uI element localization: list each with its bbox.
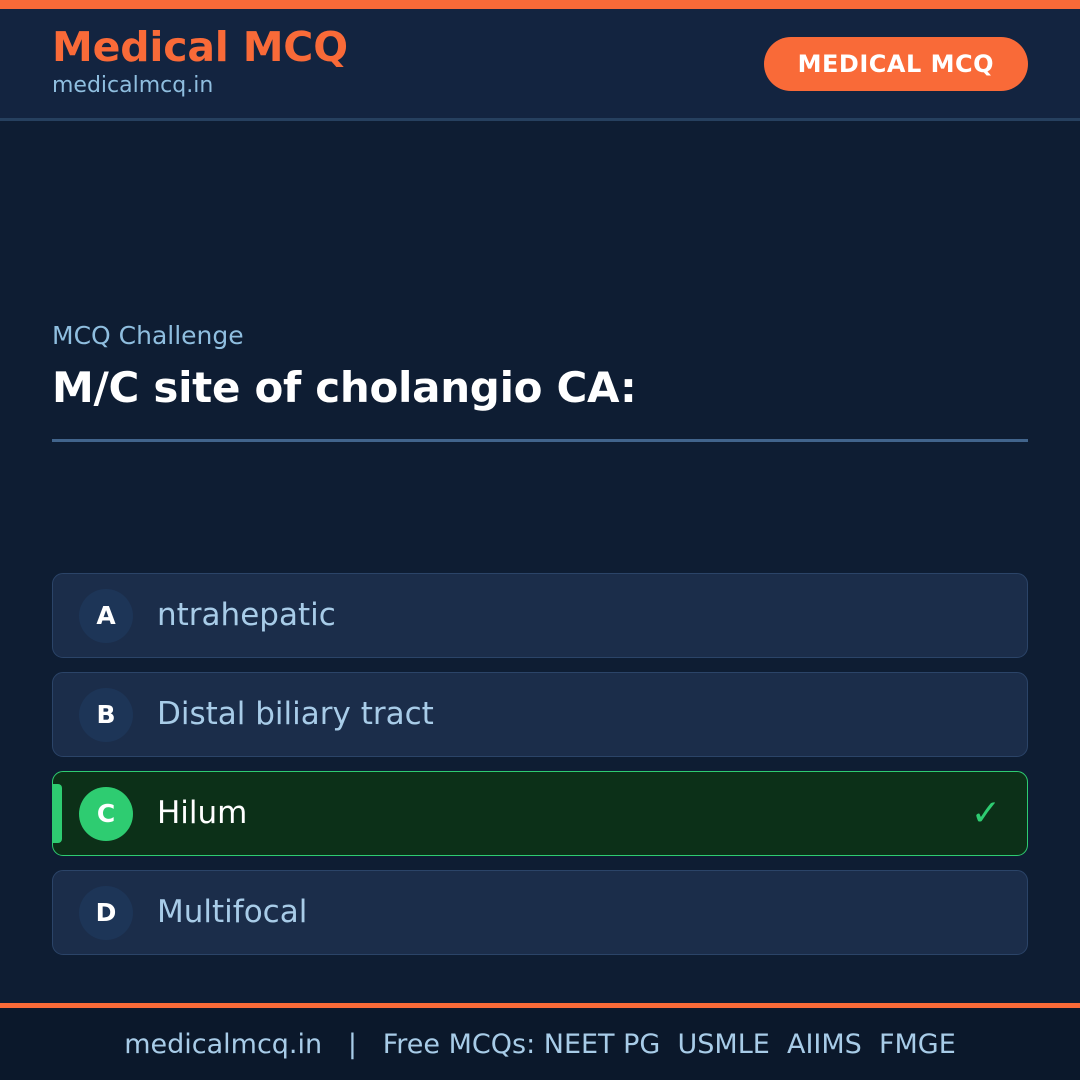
option-letter-badge: D — [79, 886, 133, 940]
header-badge: MEDICAL MCQ — [764, 37, 1028, 91]
option-text: Distal biliary tract — [157, 696, 985, 733]
main-content: MCQ Challenge M/C site of cholangio CA: … — [0, 121, 1080, 1003]
option-letter-badge: A — [79, 589, 133, 643]
brand-block: Medical MCQ medicalmcq.in — [52, 26, 348, 101]
eyebrow-label: MCQ Challenge — [52, 321, 1028, 351]
option-text: Hilum — [157, 795, 955, 832]
footer: medicalmcq.in | Free MCQs: NEET PG USMLE… — [0, 1008, 1080, 1080]
footer-text: medicalmcq.in | Free MCQs: NEET PG USMLE… — [124, 1031, 956, 1058]
header: Medical MCQ medicalmcq.in MEDICAL MCQ — [0, 9, 1080, 121]
top-accent-bar — [0, 0, 1080, 9]
option-row-a[interactable]: A ntrahepatic — [52, 573, 1028, 658]
question-block: MCQ Challenge M/C site of cholangio CA: — [52, 321, 1028, 442]
option-row-d[interactable]: D Multifocal — [52, 870, 1028, 955]
options-list: A ntrahepatic B Distal biliary tract C H… — [52, 573, 1028, 955]
option-row-c[interactable]: C Hilum ✓ — [52, 771, 1028, 856]
question-text: M/C site of cholangio CA: — [52, 363, 1028, 413]
brand-title: Medical MCQ — [52, 26, 348, 69]
brand-subtitle: medicalmcq.in — [52, 71, 348, 101]
option-row-b[interactable]: B Distal biliary tract — [52, 672, 1028, 757]
mcq-card: Medical MCQ medicalmcq.in MEDICAL MCQ MC… — [0, 0, 1080, 1080]
correct-accent-bar — [53, 784, 62, 843]
check-icon: ✓ — [971, 796, 1001, 832]
option-letter-badge: B — [79, 688, 133, 742]
option-text: Multifocal — [157, 894, 985, 931]
option-letter-badge: C — [79, 787, 133, 841]
option-text: ntrahepatic — [157, 597, 985, 634]
question-divider — [52, 439, 1028, 442]
